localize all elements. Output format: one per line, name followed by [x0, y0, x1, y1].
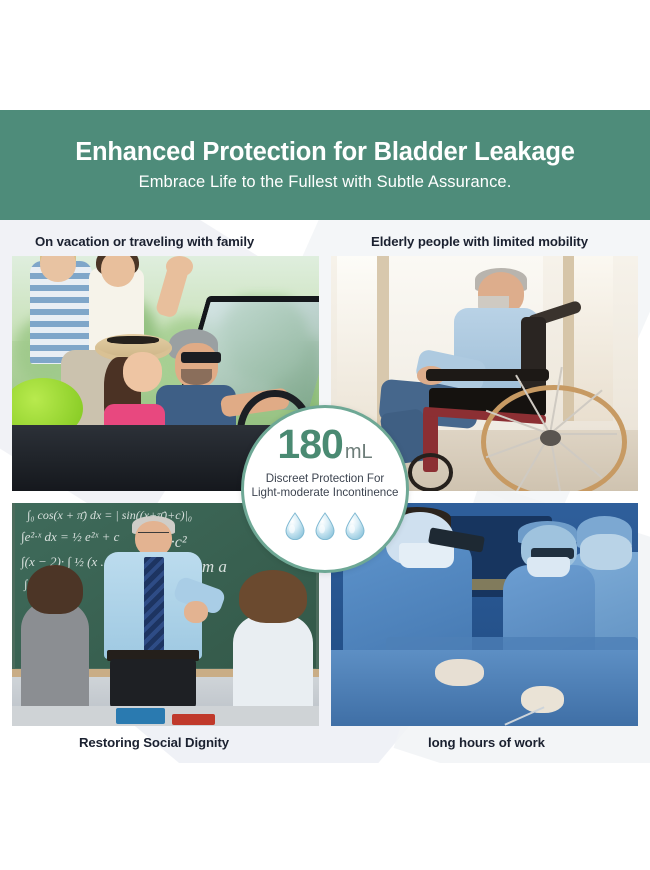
caption-top-left: On vacation or traveling with family — [35, 234, 254, 249]
absorbency-droplets — [284, 512, 366, 540]
water-drop-icon — [314, 512, 336, 540]
caption-bottom-right: long hours of work — [428, 735, 545, 750]
caption-top-right: Elderly people with limited mobility — [371, 234, 588, 249]
header-banner: Enhanced Protection for Bladder Leakage … — [0, 110, 650, 220]
capacity-value-row: 180 mL — [277, 424, 372, 465]
page-title: Enhanced Protection for Bladder Leakage — [75, 138, 575, 166]
caption-bottom-left: Restoring Social Dignity — [79, 735, 229, 750]
capacity-unit: mL — [345, 442, 373, 462]
footer-whitespace — [0, 763, 650, 870]
product-infographic: Enhanced Protection for Bladder Leakage … — [0, 0, 650, 870]
water-drop-icon — [344, 512, 366, 540]
badge-line-1: Discreet Protection For — [266, 472, 385, 486]
badge-line-2: Light-moderate Incontinence — [252, 486, 399, 500]
water-drop-icon — [284, 512, 306, 540]
capacity-value: 180 — [277, 424, 342, 465]
capacity-badge: 180 mL Discreet Protection For Light-mod… — [241, 405, 409, 573]
page-subtitle: Embrace Life to the Fullest with Subtle … — [139, 173, 512, 192]
